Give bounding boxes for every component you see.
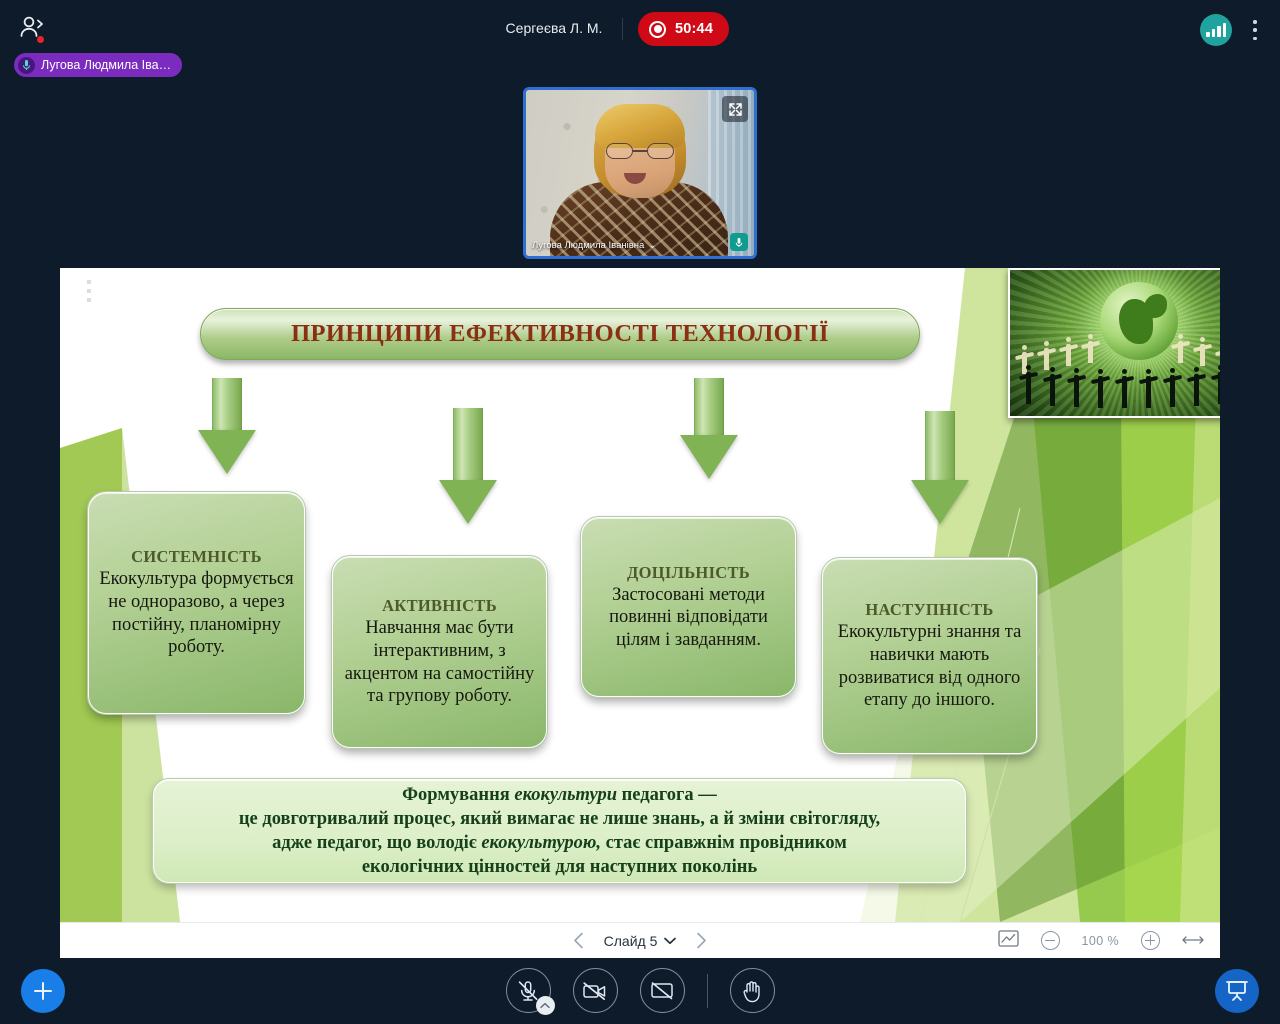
slide-title-banner: ПРИНЦИПИ ЕФЕКТИВНОСТІ ТЕХНОЛОГІЇ (200, 308, 920, 360)
slide-toolbar: Слайд 5 100 % (60, 922, 1220, 958)
participants-alert-dot (36, 35, 45, 44)
principle-box-4: НАСТУПНІСТЬ Екокультурні знання та навич… (822, 558, 1037, 754)
video-label-caret: ⌄ (648, 240, 656, 251)
arrow-down-1 (198, 378, 256, 473)
participant-figure (550, 106, 728, 256)
globe-with-people-ring-image (1008, 268, 1220, 418)
meeting-app: Лугова Людмила Іва… Сергеєва Л. М. 50:44 (0, 0, 1280, 1024)
principle-heading: СИСТЕМНІСТЬ (131, 547, 262, 567)
zoom-level: 100 % (1082, 934, 1119, 948)
summary-box: Формування екокультури педагога — це дов… (153, 779, 966, 883)
arrow-down-4 (911, 411, 969, 521)
active-speaker-chip[interactable]: Лугова Людмила Іва… (14, 53, 182, 77)
host-name-text: Сергеєва Л. М. (506, 20, 603, 36)
screen-share-off-icon[interactable] (640, 968, 685, 1013)
network-signal-icon[interactable] (1200, 14, 1232, 46)
principle-heading: НАСТУПНІСТЬ (865, 600, 993, 620)
expand-icon[interactable] (722, 96, 748, 122)
prev-slide-button[interactable] (568, 930, 590, 952)
principle-body: Застосовані методи повинні відповідати ц… (592, 584, 785, 652)
arrow-down-2 (439, 408, 497, 518)
active-speaker-name: Лугова Людмила Іва… (41, 58, 171, 72)
slide-canvas: ПРИНЦИПИ ЕФЕКТИВНОСТІ ТЕХНОЛОГІЇ (60, 268, 1220, 922)
principle-box-3: ДОЦІЛЬНІСТЬ Застосовані методи повинні в… (581, 517, 796, 697)
arrow-down-3 (680, 378, 738, 478)
recording-time: 50:44 (675, 21, 713, 37)
recording-indicator[interactable]: 50:44 (638, 12, 729, 46)
principle-heading: ДОЦІЛЬНІСТЬ (627, 563, 750, 583)
summary-line-4: екологічних цінностей для наступних поко… (362, 857, 757, 877)
top-bar: Лугова Людмила Іва… Сергеєва Л. М. 50:44 (0, 0, 1280, 58)
summary-line-3-post: стає справжнім провідником (601, 833, 847, 853)
slide-viewer[interactable]: ПРИНЦИПИ ЕФЕКТИВНОСТІ ТЕХНОЛОГІЇ (60, 268, 1220, 922)
summary-line-2: це довготривалий процес, який вимагає не… (239, 809, 880, 829)
presentation-icon[interactable] (998, 930, 1019, 952)
slide-selector[interactable]: Слайд 5 (604, 932, 677, 950)
mic-on-icon (18, 57, 35, 74)
slide-kebab-menu-icon[interactable] (82, 280, 96, 302)
principle-box-2: АКТИВНІСТЬ Навчання має бути інтерактивн… (332, 556, 547, 748)
video-label: Лугова Людмила Іванівна ⌄ (532, 240, 656, 251)
people-ring-decor (1010, 328, 1220, 408)
call-controls (0, 968, 1280, 1013)
principle-body: Навчання має бути інтерактивним, з акцен… (343, 617, 536, 707)
slide-number-label: Слайд 5 (604, 933, 658, 949)
zoom-out-icon[interactable] (1041, 931, 1060, 950)
principle-body: Екокультурні знання та навички мають роз… (833, 621, 1026, 711)
zoom-in-icon[interactable] (1141, 931, 1160, 950)
principle-heading: АКТИВНІСТЬ (382, 596, 497, 616)
mic-off-icon[interactable] (506, 968, 551, 1013)
principle-box-1: СИСТЕМНІСТЬ Екокультура формується не од… (88, 492, 305, 714)
controls-divider (707, 974, 708, 1008)
kebab-menu-icon[interactable] (1246, 18, 1264, 42)
topbar-divider (622, 18, 623, 40)
chevron-down-icon (664, 932, 676, 950)
slide-title-text: ПРИНЦИПИ ЕФЕКТИВНОСТІ ТЕХНОЛОГІЇ (291, 320, 829, 348)
mic-options-icon[interactable] (536, 996, 555, 1015)
summary-line-1-post: педагога — (617, 785, 717, 805)
next-slide-button[interactable] (690, 930, 712, 952)
mic-on-icon (730, 233, 748, 251)
video-label-name: Лугова Людмила Іванівна (532, 240, 644, 251)
bottom-bar (0, 958, 1280, 1024)
summary-italic-1: екокультури (514, 785, 617, 805)
summary-text: Формування екокультури педагога — це дов… (239, 783, 880, 879)
record-icon (649, 21, 666, 38)
raise-hand-icon[interactable] (730, 968, 775, 1013)
summary-italic-2: екокультурою, (481, 833, 601, 853)
camera-off-icon[interactable] (573, 968, 618, 1013)
principle-body: Екокультура формується не одноразово, а … (99, 568, 294, 658)
video-tile[interactable]: Лугова Людмила Іванівна ⌄ (523, 87, 757, 259)
whiteboard-icon[interactable] (1215, 969, 1259, 1013)
summary-line-3-pre: адже педагог, що володіє (272, 833, 481, 853)
fit-width-icon[interactable] (1182, 932, 1204, 950)
summary-line-1-pre: Формування (402, 785, 514, 805)
zoom-controls: 100 % (998, 930, 1204, 952)
